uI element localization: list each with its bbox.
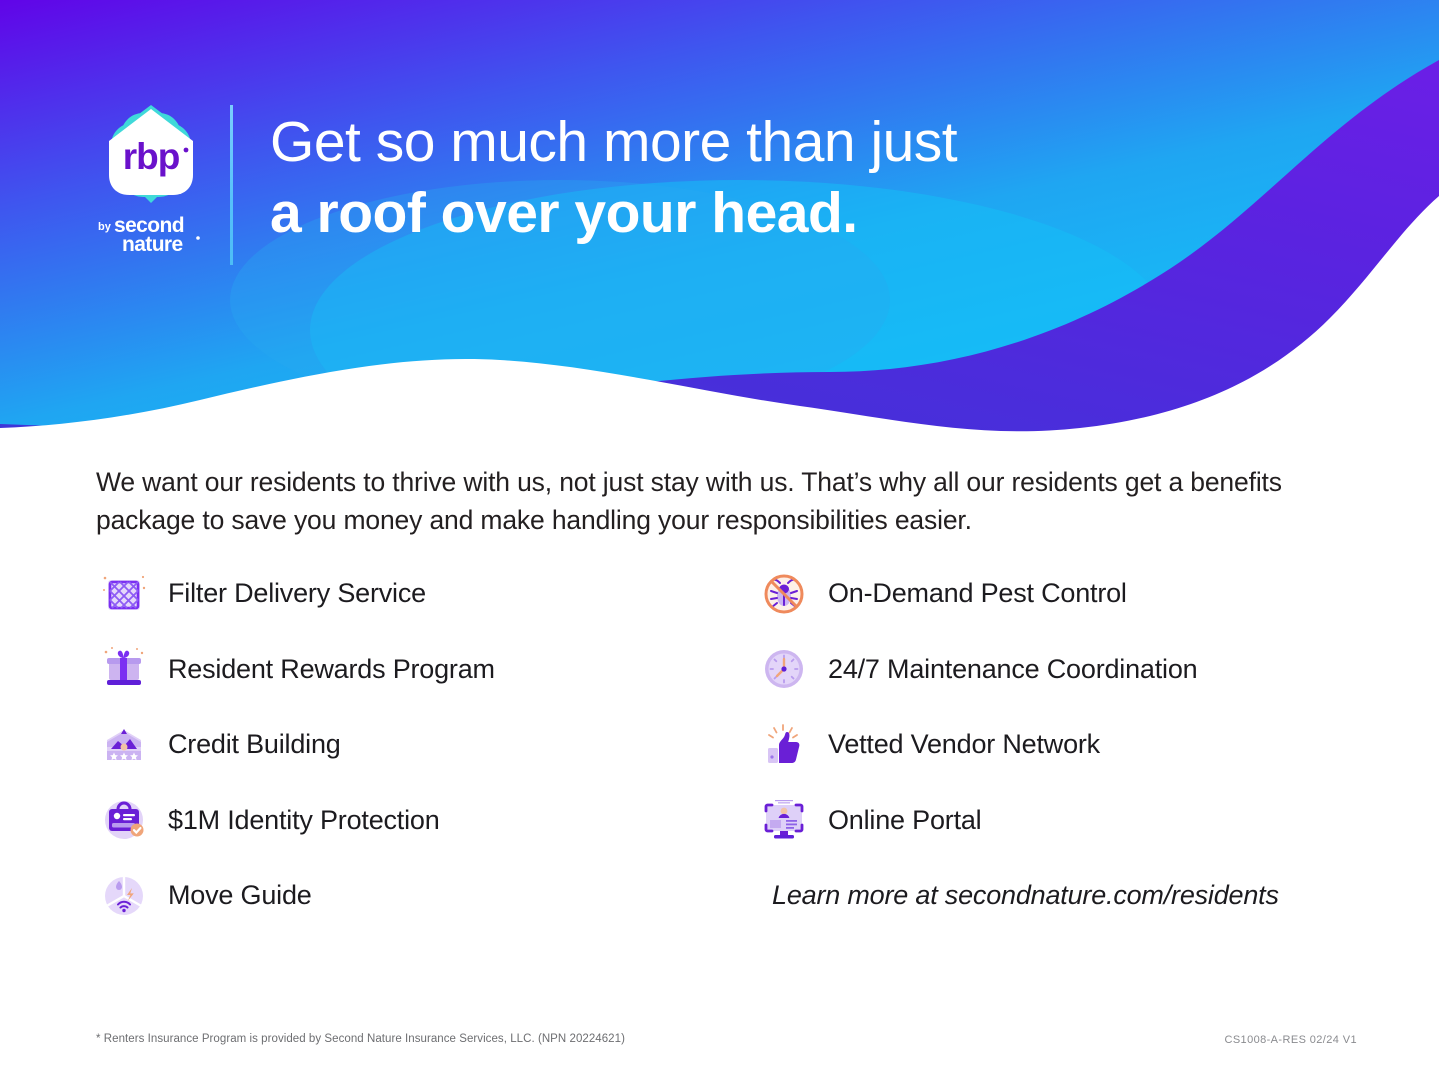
benefit-item-identity-protection: $1M Identity Protection xyxy=(96,783,756,859)
clock-icon xyxy=(756,641,812,697)
benefit-label: Credit Building xyxy=(168,729,341,760)
benefit-item-credit-building: Credit Building xyxy=(96,707,756,783)
benefit-label: Online Portal xyxy=(828,805,981,836)
computer-monitor-icon xyxy=(756,792,812,848)
footer-document-code: CS1008-A-RES 02/24 V1 xyxy=(1224,1034,1357,1046)
second-nature-byline: by second nature xyxy=(96,212,206,261)
benefit-item-vetted-vendor-network: Vetted Vendor Network xyxy=(756,707,1346,783)
benefit-label: Filter Delivery Service xyxy=(168,578,426,609)
hero-banner: rbp by second nature Get so much more th… xyxy=(0,0,1439,440)
benefit-item-online-portal: Online Portal xyxy=(756,783,1346,859)
intro-paragraph: We want our residents to thrive with us,… xyxy=(96,463,1311,539)
svg-text:by: by xyxy=(98,221,112,233)
benefit-item-filter-delivery-service: Filter Delivery Service xyxy=(96,556,756,632)
benefits-column-right: On-Demand Pest Control xyxy=(756,556,1346,934)
learn-more-link[interactable]: Learn more at secondnature.com/residents xyxy=(772,880,1346,911)
benefit-item-pest-control: On-Demand Pest Control xyxy=(756,556,1346,632)
benefits-section: Filter Delivery Service Resident Rewa xyxy=(96,556,1346,934)
benefit-label: 24/7 Maintenance Coordination xyxy=(828,654,1197,685)
benefit-label: $1M Identity Protection xyxy=(168,805,440,836)
gift-icon xyxy=(96,641,152,697)
headline-line-1: Get so much more than just xyxy=(270,108,1320,176)
header-divider xyxy=(230,105,233,265)
benefit-label: Move Guide xyxy=(168,880,312,911)
headline-line-2: a roof over your head. xyxy=(270,179,1320,247)
utilities-wheel-icon xyxy=(96,868,152,924)
benefit-label: Resident Rewards Program xyxy=(168,654,495,685)
no-pest-icon xyxy=(756,566,812,622)
benefit-label: On-Demand Pest Control xyxy=(828,578,1127,609)
rbp-logo-icon: rbp xyxy=(97,103,205,205)
svg-text:nature: nature xyxy=(122,233,183,256)
credit-score-icon xyxy=(96,717,152,773)
brand-logo-lockup: rbp by second nature xyxy=(88,103,213,261)
hero-headline: Get so much more than just a roof over y… xyxy=(270,108,1320,247)
svg-text:rbp: rbp xyxy=(122,136,179,177)
benefit-item-move-guide: Move Guide xyxy=(96,858,756,934)
id-badge-shield-icon xyxy=(96,792,152,848)
thumbs-up-icon xyxy=(756,717,812,773)
benefit-item-maintenance-coordination: 24/7 Maintenance Coordination xyxy=(756,632,1346,708)
benefit-item-resident-rewards-program: Resident Rewards Program xyxy=(96,632,756,708)
benefit-label: Vetted Vendor Network xyxy=(828,729,1100,760)
benefits-column-left: Filter Delivery Service Resident Rewa xyxy=(96,556,756,934)
footer-disclaimer: * Renters Insurance Program is provided … xyxy=(96,1033,625,1045)
air-filter-icon xyxy=(96,566,152,622)
